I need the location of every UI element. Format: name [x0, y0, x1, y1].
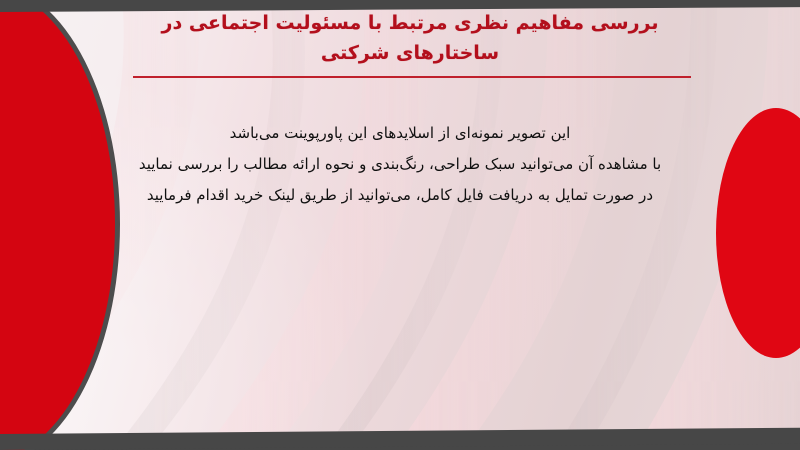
body-line-2: با مشاهده آن می‌توانید سبک طراحی، رنگ‌بن…: [60, 149, 740, 180]
slide-title: بررسی مفاهیم نظری مرتبط با مسئولیت اجتما…: [110, 8, 710, 68]
slide-title-line-1: بررسی مفاهیم نظری مرتبط با مسئولیت اجتما…: [110, 8, 710, 38]
slide-background: [0, 3, 800, 442]
body-line-1: این تصویر نمونه‌ای از اسلایدهای این پاور…: [60, 118, 740, 149]
ribbon-pattern-decoration: [0, 8, 800, 442]
slide-background-inner: [0, 8, 800, 442]
title-underline-rule: [133, 76, 691, 78]
slide-title-line-2: ساختارهای شرکتی: [110, 38, 710, 68]
body-line-3: در صورت تمایل به دریافت فایل کامل، می‌تو…: [60, 180, 740, 211]
slide-canvas: بررسی مفاهیم نظری مرتبط با مسئولیت اجتما…: [0, 0, 800, 450]
slide-body-text: این تصویر نمونه‌ای از اسلایدهای این پاور…: [60, 118, 740, 211]
